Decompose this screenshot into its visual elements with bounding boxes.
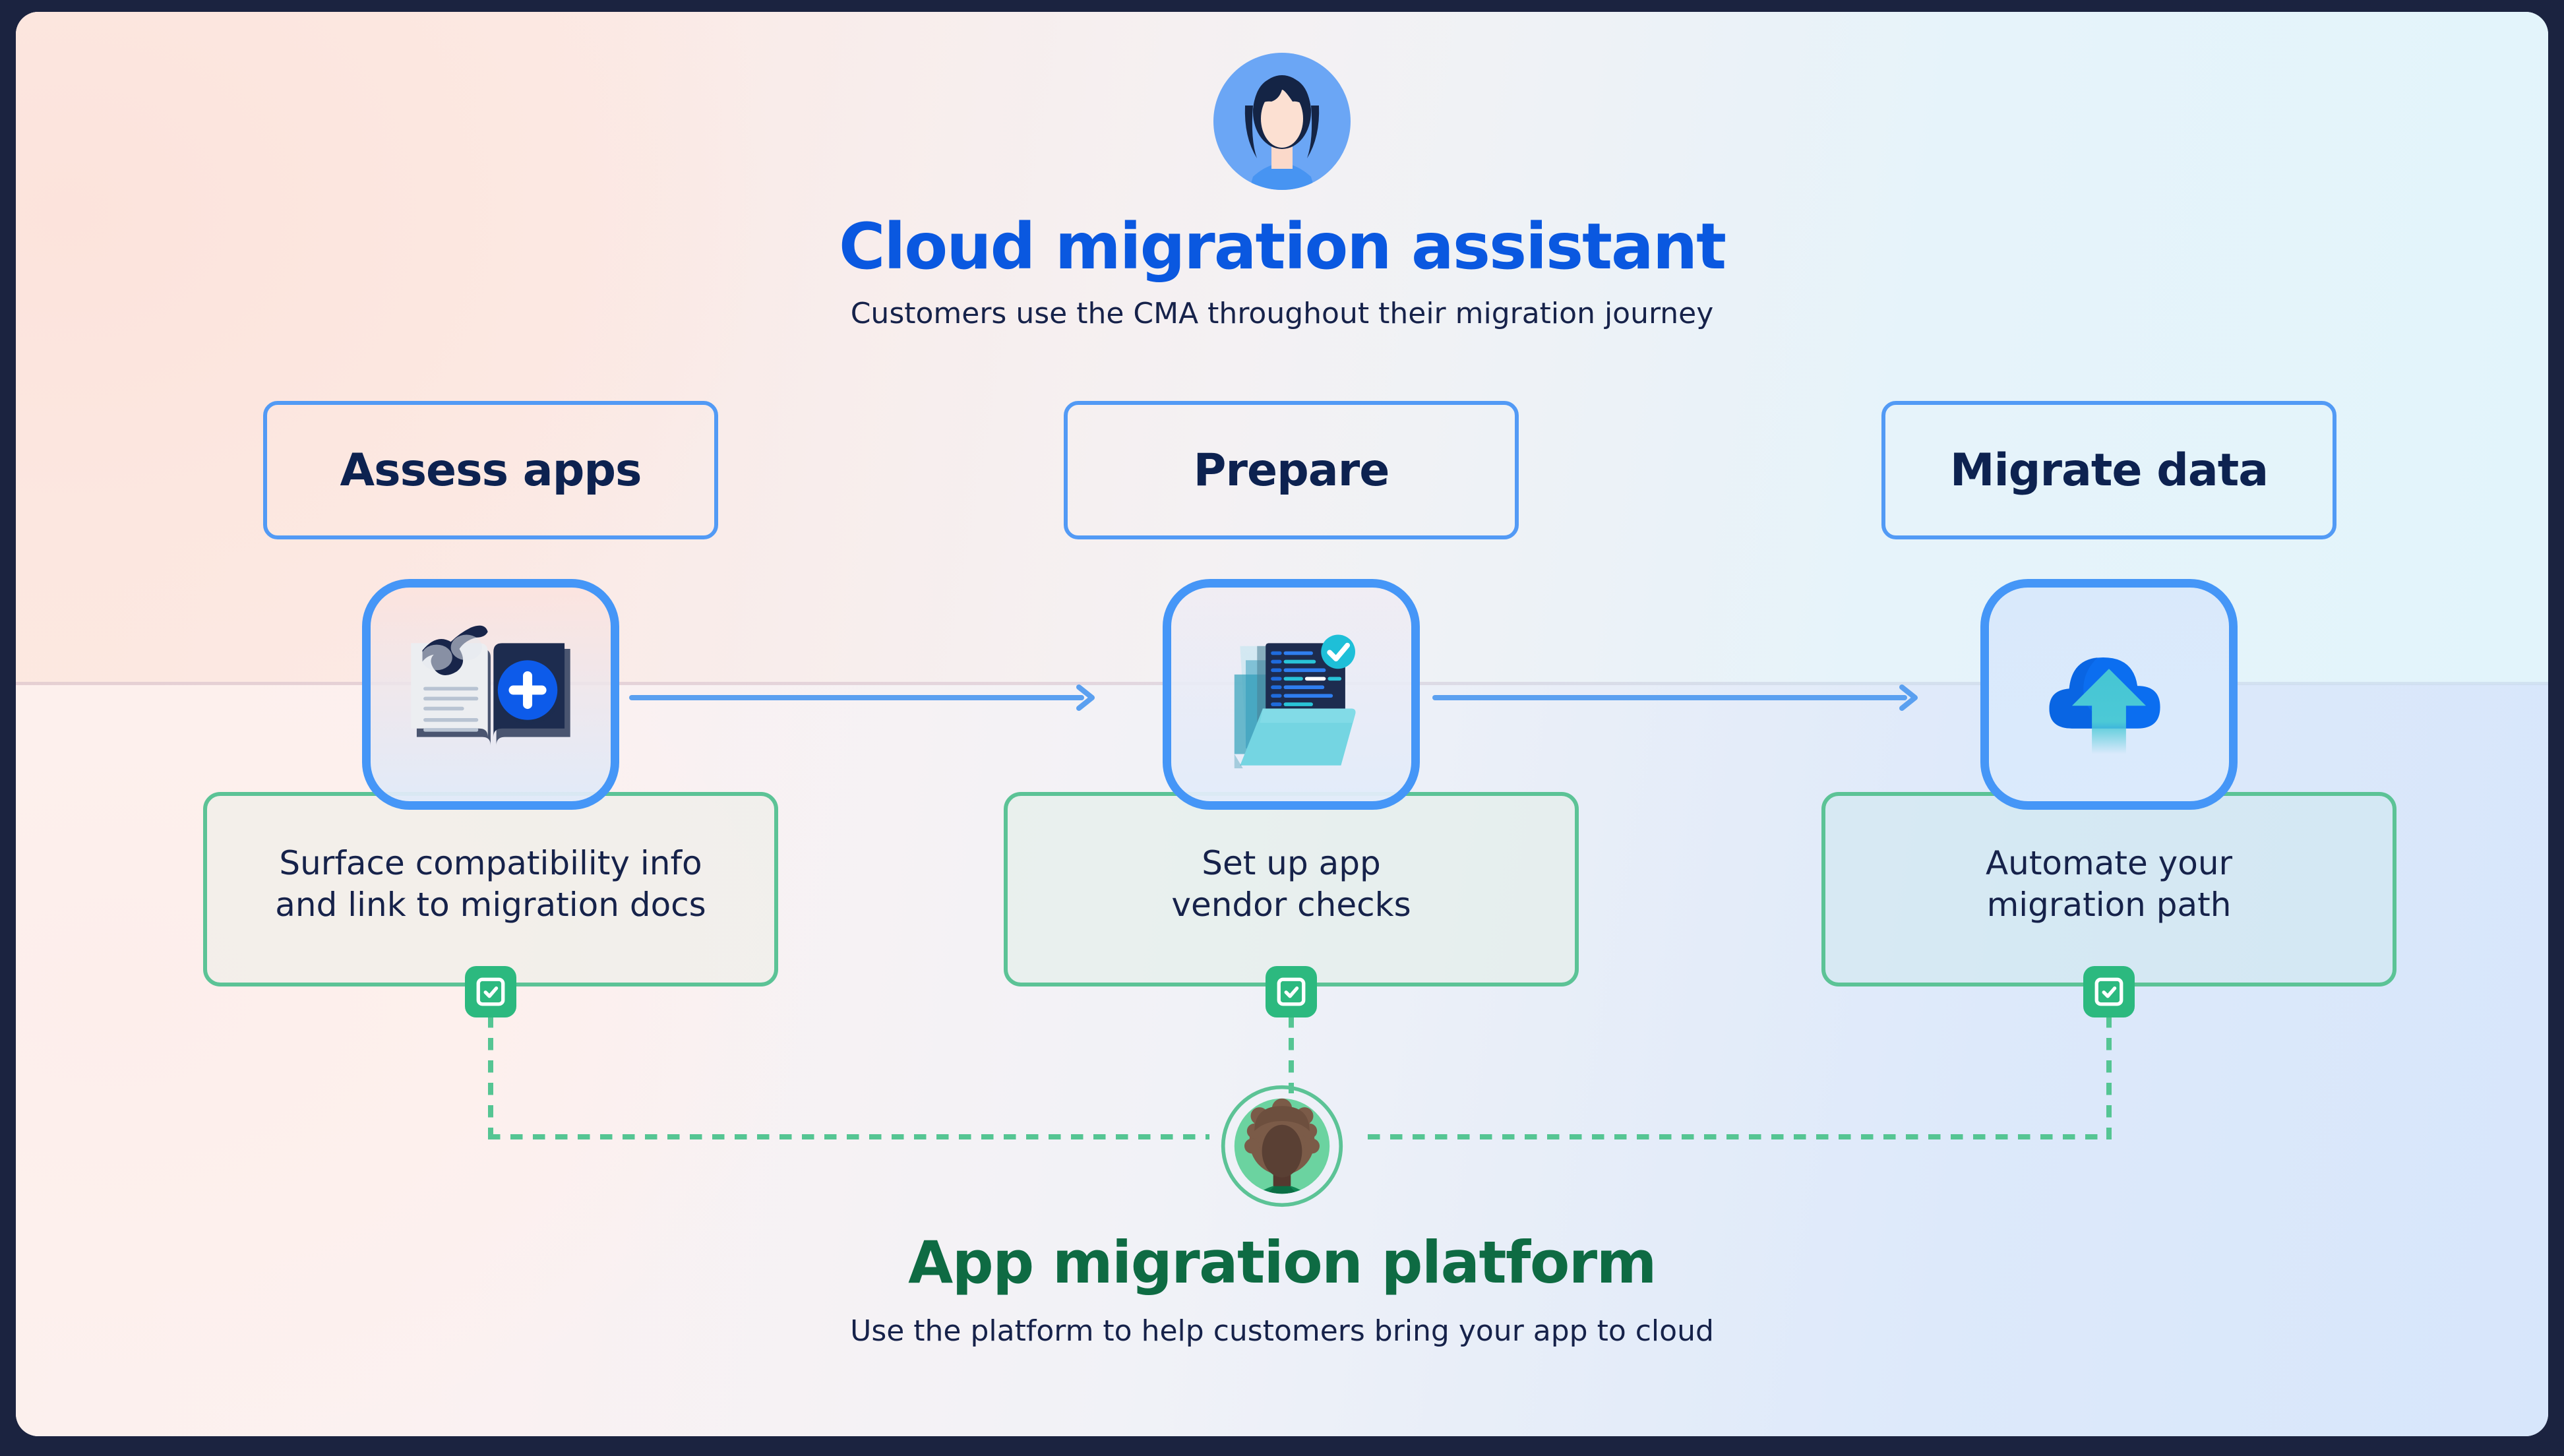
arrow-line [1432, 695, 1907, 700]
checkbox-icon[interactable] [1266, 966, 1317, 1017]
arrow-right-icon [1898, 684, 1920, 711]
step-icon-tile-assess-apps[interactable] [362, 579, 619, 810]
step-description-text: Set up appvendor checks [1171, 843, 1411, 936]
checkbox-icon[interactable] [465, 966, 516, 1017]
dashed-connector-vertical-left [488, 1016, 493, 1139]
arrow-line [629, 695, 1084, 700]
step-icon-tile-prepare[interactable] [1163, 579, 1420, 810]
dashed-connector-vertical-right [2106, 1016, 2112, 1139]
folder-document-check-icon [1202, 612, 1380, 777]
platform-subtitle: Use the platform to help customers bring… [16, 1314, 2548, 1348]
dashed-connector-horizontal-right [1368, 1134, 2112, 1139]
step-description-box-assess-apps: Surface compatibility infoand link to mi… [203, 792, 778, 986]
book-with-glasses-icon [402, 612, 580, 777]
step-description-box-prepare: Set up appvendor checks [1004, 792, 1579, 986]
step-card-migrate-data[interactable]: Migrate data [1881, 401, 2336, 539]
female-avatar-icon [1213, 53, 1351, 190]
diagram-canvas: Cloud migration assistant Customers use … [16, 12, 2548, 1436]
step-card-label: Assess apps [340, 444, 641, 497]
flow-arrow-assess-to-prepare [629, 684, 1097, 711]
page-subtitle: Customers use the CMA throughout their m… [16, 297, 2548, 330]
step-description-box-migrate-data: Automate yourmigration path [1821, 792, 2396, 986]
arrow-right-icon [1075, 684, 1097, 711]
dashed-connector-horizontal-left [488, 1134, 1209, 1139]
outer-frame: Cloud migration assistant Customers use … [0, 0, 2564, 1456]
checkbox-icon[interactable] [2083, 966, 2135, 1017]
step-card-assess-apps[interactable]: Assess apps [263, 401, 718, 539]
step-icon-tile-migrate-data[interactable] [1980, 579, 2238, 810]
page-title: Cloud migration assistant [16, 210, 2548, 284]
step-description-text: Surface compatibility infoand link to mi… [275, 843, 706, 936]
flow-arrow-prepare-to-migrate [1432, 684, 1920, 711]
cloud-upload-icon [2020, 612, 2198, 777]
step-card-label: Migrate data [1950, 444, 2268, 497]
step-description-text: Automate yourmigration path [1986, 843, 2232, 936]
person-avatar-icon [1219, 1083, 1345, 1209]
platform-title: App migration platform [16, 1228, 2548, 1296]
dashed-connector-vertical-mid [1289, 1016, 1294, 1093]
step-card-prepare[interactable]: Prepare [1064, 401, 1519, 539]
step-card-label: Prepare [1194, 444, 1389, 497]
